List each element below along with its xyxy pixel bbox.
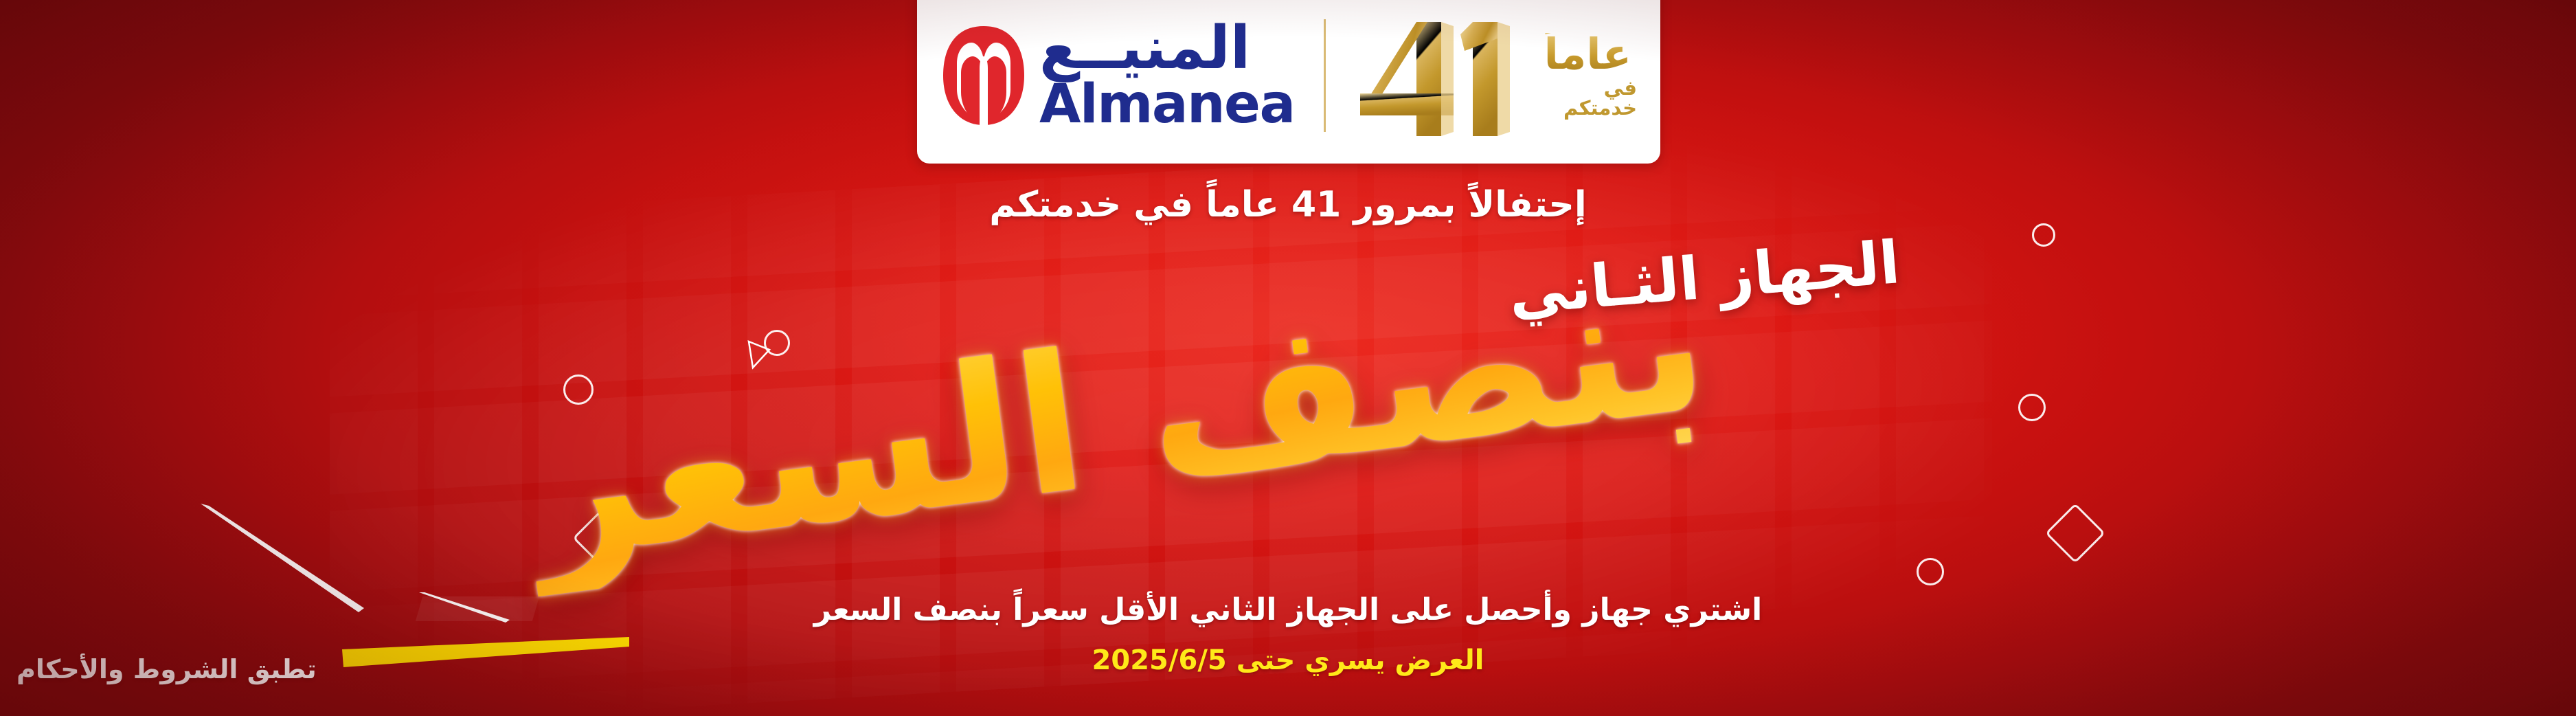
circle-outline-icon: [1917, 558, 1944, 585]
brand-name-english: Almanea: [1039, 78, 1295, 131]
vertical-divider-icon: [1324, 19, 1326, 132]
anniversary-words: عاماً في خدمتكم: [1539, 33, 1637, 118]
celebration-subtitle: إحتفالاً بمرور 41 عاماً في خدمتكم: [0, 184, 2576, 225]
anniversary-service-label: في خدمتكم: [1539, 78, 1637, 118]
diamond-outline-icon: [2045, 503, 2105, 563]
almanea-brand-block: المنيــع Almanea: [940, 20, 1299, 132]
headline-half-price: بنصف السعر: [206, 199, 2031, 636]
promotional-banner: المنيــع Almanea: [0, 0, 2576, 716]
anniversary-year-label: عاماً: [1544, 33, 1631, 76]
circle-outline-icon: [2032, 223, 2055, 247]
anniversary-block: عاماً في خدمتكم: [1351, 11, 1637, 140]
almanea-wordmark: المنيــع Almanea: [1039, 20, 1295, 132]
brand-logo-plate: المنيــع Almanea: [917, 0, 1660, 164]
offer-validity-date: العرض يسري حتى 2025/6/5: [0, 645, 2576, 676]
almanea-tulip-icon: [940, 23, 1027, 128]
offer-description: اشتري جهاز وأحصل على الجهاز الثاني الأقل…: [0, 592, 2576, 627]
brand-name-arabic: المنيــع: [1039, 20, 1250, 77]
terms-and-conditions-note: تطبق الشروط والأحكام: [16, 654, 317, 684]
gold-41-icon: [1351, 11, 1529, 140]
